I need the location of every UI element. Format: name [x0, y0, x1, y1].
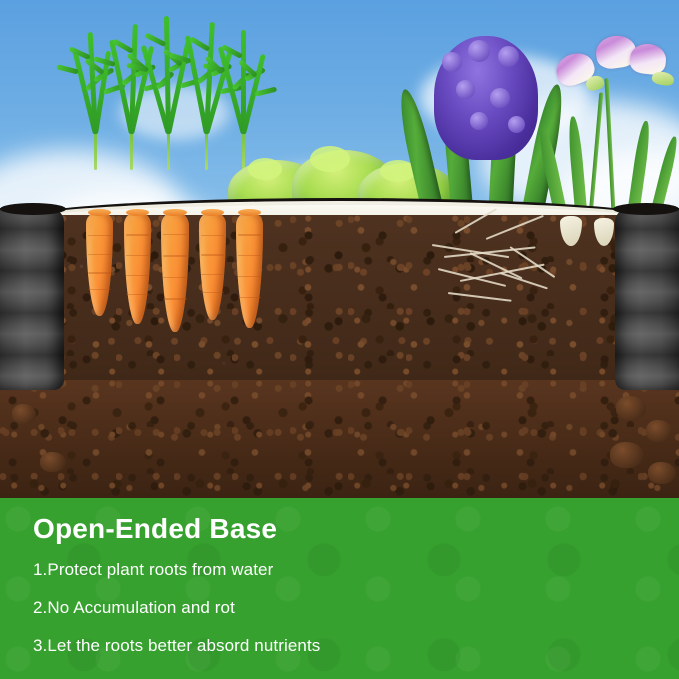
benefit-item-1: 1.Protect plant roots from water: [33, 560, 633, 580]
benefit-list: 1.Protect plant roots from water 2.No Ac…: [33, 560, 633, 674]
hyacinth-floret: [470, 112, 488, 130]
bed-wall-top-edge-left: [0, 203, 66, 215]
bed-wall-left: [0, 208, 64, 390]
soil-clod: [610, 442, 644, 468]
soil-clod: [40, 452, 66, 472]
benefit-item-2: 2.No Accumulation and rot: [33, 598, 633, 618]
benefit-item-3: 3.Let the roots better absord nutrients: [33, 636, 633, 656]
bed-wall-right: [615, 208, 679, 390]
hyacinth-floret: [456, 80, 475, 99]
soil-clod: [646, 420, 672, 442]
ground-soil-texture: [0, 380, 679, 505]
lettuce-frill: [248, 158, 282, 180]
hyacinth-floret: [508, 116, 525, 133]
soil-clod: [648, 462, 676, 484]
soil-clod: [616, 396, 646, 420]
freesia-stem: [588, 92, 603, 222]
banner-title: Open-Ended Base: [33, 513, 277, 545]
freesia-bud: [651, 70, 675, 87]
soil-clod: [12, 404, 36, 424]
product-illustration: Open-Ended Base 1.Protect plant roots fr…: [0, 0, 679, 679]
ground-soil: [0, 380, 679, 505]
hyacinth-floret: [498, 46, 519, 67]
lettuce-frill: [310, 146, 350, 172]
hyacinth-floret: [468, 40, 490, 62]
hyacinth-floret: [490, 88, 510, 108]
bed-wall-top-edge-right: [613, 203, 679, 215]
hyacinth-floret: [442, 52, 462, 72]
freesia-stem: [604, 78, 616, 222]
feature-banner: Open-Ended Base 1.Protect plant roots fr…: [0, 498, 679, 679]
